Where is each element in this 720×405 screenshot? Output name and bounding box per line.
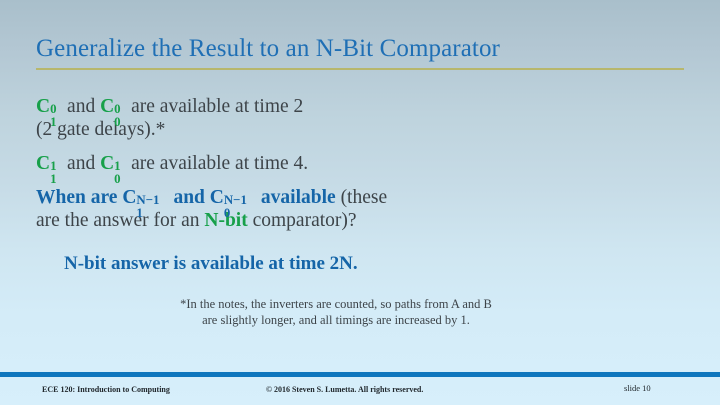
conjunction-and-1: and <box>62 96 100 117</box>
question-line: When are CN−11 and CN−10 available (thes… <box>36 186 686 232</box>
footer-course-name: ECE 120: Introduction to Computing <box>42 385 170 394</box>
variable-c0-sup0: C00 <box>100 95 126 118</box>
footer-slide-number: slide 10 <box>624 383 651 393</box>
conjunction-and-3: and <box>169 187 210 208</box>
question-lead: When are <box>36 187 122 208</box>
statement-line-2: C11 and C10 are available at time 4. <box>36 152 686 175</box>
statement-line-1: C01 and C00 are available at time 2 (2 g… <box>36 95 686 141</box>
title-block: Generalize the Result to an N-Bit Compar… <box>36 34 684 70</box>
footnote-line-1: *In the notes, the inverters are counted… <box>36 296 636 312</box>
variable-c0-supN1: CN−10 <box>210 186 256 209</box>
variable-c1-supN1: CN−11 <box>122 186 168 209</box>
footnote: *In the notes, the inverters are counted… <box>36 296 636 328</box>
statement-1-tail: are available at time 2 <box>126 96 303 117</box>
question-paren-open: (these <box>336 187 387 208</box>
conjunction-and-2: and <box>62 153 100 174</box>
page-title: Generalize the Result to an N-Bit Compar… <box>36 34 684 64</box>
question-line2-b: comparator)? <box>248 210 357 231</box>
statement-2-tail: are available at time 4. <box>126 153 308 174</box>
variable-c0-sup1: C10 <box>100 152 126 175</box>
variable-c1-sup1: C11 <box>36 152 62 175</box>
slide-canvas: Generalize the Result to an N-Bit Compar… <box>0 0 720 405</box>
question-line2-a: are the answer for an <box>36 210 204 231</box>
variable-c1-sup0: C01 <box>36 95 62 118</box>
statement-1-second-line: (2 gate delays).* <box>36 118 686 141</box>
footer-copyright: © 2016 Steven S. Lumetta. All rights res… <box>266 385 423 394</box>
question-available-word: available <box>256 187 336 208</box>
slide-footer: ECE 120: Introduction to Computing © 201… <box>0 385 720 401</box>
body-content: C01 and C00 are available at time 2 (2 g… <box>36 95 686 236</box>
title-divider <box>36 68 684 70</box>
footnote-line-2: are slightly longer, and all timings are… <box>36 312 636 328</box>
question-second-line: are the answer for an N-bit comparator)? <box>36 209 686 232</box>
answer-statement: N-bit answer is available at time 2N. <box>64 252 358 276</box>
footer-divider <box>0 372 720 377</box>
